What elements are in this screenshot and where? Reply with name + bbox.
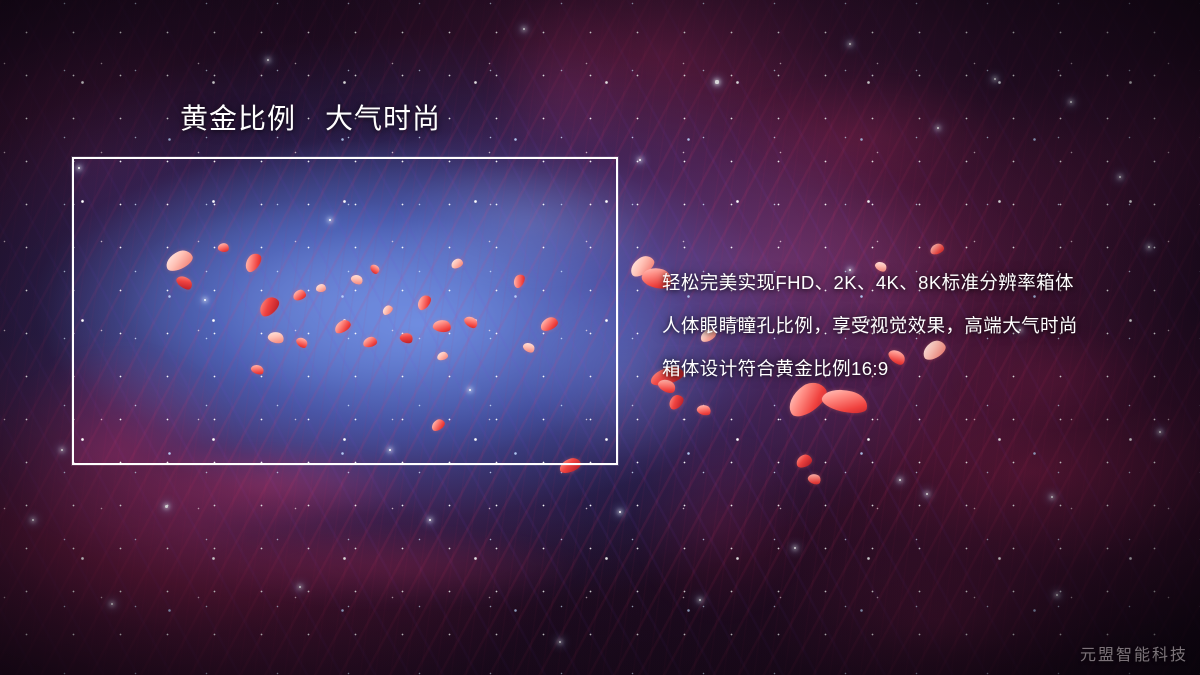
flower-petal (267, 330, 286, 345)
flower-petal (250, 363, 266, 377)
brand-watermark: 元盟智能科技 (1080, 641, 1188, 665)
slide-body-copy: 轻松完美实现FHD、2K、4K、8K标准分辨率箱体 人体眼睛瞳孔比例，享受视觉效… (662, 261, 1162, 390)
presentation-slide: 黄金比例 大气时尚 轻松完美实现FHD、2K、4K、8K标准分辨率箱体 人体眼睛… (0, 0, 1200, 675)
flower-petal (429, 417, 446, 433)
body-copy-line-2: 人体眼睛瞳孔比例，享受视觉效果，高端大气时尚 (662, 304, 1162, 347)
flower-petal (381, 304, 395, 317)
preview-petal-field (72, 157, 618, 465)
body-copy-line-1: 轻松完美实现FHD、2K、4K、8K标准分辨率箱体 (662, 261, 1162, 304)
flower-petal (242, 251, 265, 275)
flower-petal (462, 314, 479, 331)
flower-petal (217, 242, 230, 253)
flower-petal (362, 336, 378, 348)
preview-frame-content (72, 157, 618, 465)
flower-petal (292, 288, 307, 301)
flower-petal (369, 263, 381, 276)
flower-petal (415, 293, 434, 312)
flower-petal (432, 319, 452, 334)
flower-petal (522, 340, 537, 354)
preview-frame-16x9[interactable] (72, 157, 618, 465)
flower-petal (174, 273, 194, 292)
flower-petal (350, 273, 365, 287)
flower-petal (256, 294, 282, 320)
flower-petal (511, 272, 527, 289)
body-copy-line-3: 箱体设计符合黄金比例16:9 (662, 347, 1162, 390)
flower-petal (163, 247, 195, 274)
flower-petal (295, 335, 310, 350)
flower-petal (316, 284, 326, 292)
flower-petal (332, 318, 352, 336)
flower-petal (538, 315, 559, 333)
flower-petal (436, 351, 448, 361)
slide-headline: 黄金比例 大气时尚 (180, 101, 441, 136)
flower-petal (450, 257, 464, 270)
flower-petal (558, 456, 583, 465)
flower-petal (399, 331, 415, 345)
